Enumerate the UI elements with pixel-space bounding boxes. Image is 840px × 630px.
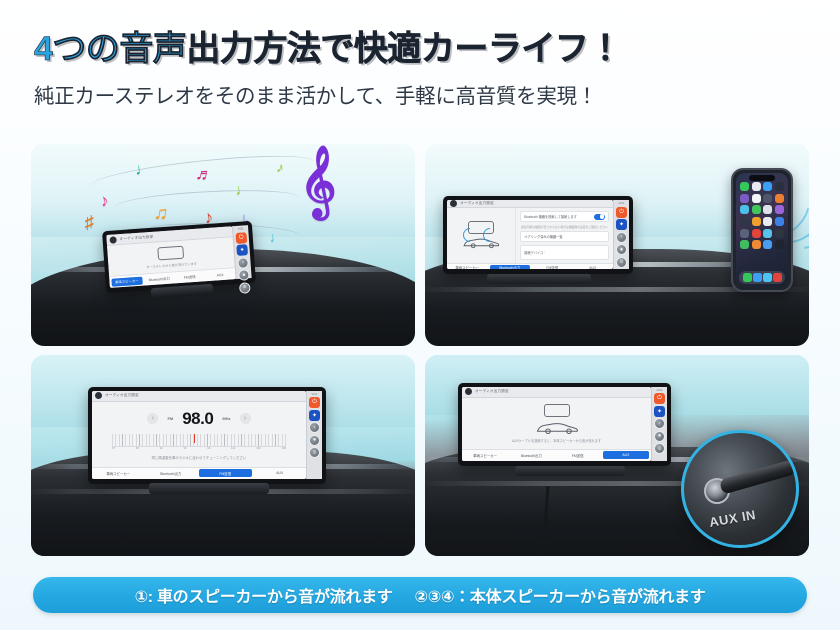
device-app-icon xyxy=(450,200,457,207)
app-icon[interactable] xyxy=(740,205,749,214)
legend-banner: ①: 車のスピーカーから音が流れます②③④：本体スピーカーから音が流れます xyxy=(33,577,807,613)
dash-monitor-device[interactable]: オーディオ出力設定 AUXケーブルを接続すると、本体スピーカーから音が流れます xyxy=(458,383,671,466)
device-screen[interactable]: オーディオ出力設定 xyxy=(447,200,613,269)
app-icon[interactable] xyxy=(763,182,772,191)
device-app-icon xyxy=(465,388,472,395)
device-center-hint: カーステレオから音が流れています xyxy=(146,260,197,269)
tab-car-speaker[interactable]: 車両スピーカー xyxy=(447,264,488,270)
tab-car-speaker[interactable]: 車両スピーカー xyxy=(111,276,142,286)
fm-tick: 96 xyxy=(183,447,186,452)
panel-bluetooth-output: オーディオ出力設定 xyxy=(425,144,809,346)
tab-fm[interactable]: FM送信 xyxy=(199,469,252,477)
app-icon[interactable] xyxy=(740,194,749,203)
phone-app-grid[interactable] xyxy=(740,182,784,249)
setting-note: 接続可能な機器が見つからない場合は機器側の設定をご確認ください xyxy=(520,225,609,229)
menu-button[interactable]: ≡ xyxy=(616,257,627,268)
device-titlebar: オーディオ出力設定 xyxy=(92,391,306,402)
app-icon[interactable] xyxy=(775,194,784,203)
app-icon[interactable] xyxy=(775,205,784,214)
dash-monitor-device[interactable]: オーディオ出力設定 カーステレオから音が流れています 車両スピーカー Bluet… xyxy=(102,221,256,293)
power-button[interactable]: ⏻ xyxy=(654,393,665,404)
phone-app-icon[interactable] xyxy=(763,273,772,282)
setting-row-paired-devices[interactable]: ペアリング済みの機器一覧 xyxy=(520,231,609,242)
smartphone[interactable] xyxy=(731,168,793,292)
tab-aux[interactable]: AUX xyxy=(573,264,614,270)
app-icon[interactable] xyxy=(752,194,761,203)
phone-dock[interactable] xyxy=(739,271,785,284)
panel-aux-output: オーディオ出力設定 AUXケーブルを接続すると、本体スピーカーから音が流れます xyxy=(425,355,809,557)
back-button[interactable]: ‹ xyxy=(309,422,320,433)
aux-in-port-closeup: AUX IN xyxy=(681,430,799,548)
tab-aux[interactable]: AUX xyxy=(254,468,307,479)
menu-button[interactable]: ≡ xyxy=(309,447,320,458)
panel-car-speaker-output: ♪ ♫ ♩ ♬ ♪ ♯ ♪ ♩ ♭ ♪ ♩ ♪ ♪ 𝄞 オーディオ出力設定 xyxy=(31,144,415,346)
legend-right: ②③④：本体スピーカーから音が流れます xyxy=(414,589,705,606)
tab-aux[interactable]: AUX xyxy=(204,268,235,281)
device-app-icon xyxy=(95,392,102,399)
app-icon[interactable] xyxy=(763,217,772,226)
device-button-rail[interactable]: VOL ⏻ ✦ ‹ ● ≡ xyxy=(651,387,667,461)
app-icon[interactable] xyxy=(775,217,784,226)
fm-next-button[interactable]: › xyxy=(240,413,251,424)
tab-bluetooth[interactable]: Bluetooth出力 xyxy=(490,265,531,269)
menu-button[interactable]: ≡ xyxy=(239,282,251,294)
bluetooth-settings-list[interactable]: Bluetooth 機器を検索して接続します 接続可能な機器が見つからない場合は… xyxy=(516,208,613,263)
app-icon[interactable] xyxy=(752,217,761,226)
power-button[interactable]: ⏻ xyxy=(616,207,627,218)
aux-in-label: AUX IN xyxy=(708,507,757,530)
device-screen[interactable]: オーディオ出力設定 カーステレオから音が流れています 車両スピーカー Bluet… xyxy=(106,226,235,288)
app-icon[interactable] xyxy=(740,240,749,249)
monitor-stand xyxy=(487,274,591,284)
setting-row-connected-device[interactable]: 接続デバイス： xyxy=(520,245,609,260)
back-button[interactable]: ‹ xyxy=(654,418,665,429)
phone-app-icon[interactable] xyxy=(743,273,752,282)
fm-tick: 90 xyxy=(136,447,139,452)
volume-label: VOL xyxy=(656,389,662,392)
car-glyph-icon xyxy=(461,236,501,249)
monitor-stand xyxy=(149,483,269,494)
device-title: オーディオ出力設定 xyxy=(475,389,509,394)
app-icon[interactable] xyxy=(775,229,784,238)
app-icon[interactable] xyxy=(740,229,749,238)
device-screen[interactable]: オーディオ出力設定 ‹ FM 98.0 MHz › xyxy=(92,391,306,479)
bluetooth-button[interactable]: ✦ xyxy=(654,406,665,417)
fm-needle xyxy=(194,434,195,443)
header: 4つの音声出力方法で快適カーライフ！ 純正カーステレオをそのまま活かして、手軽に… xyxy=(0,0,840,109)
bluetooth-button[interactable]: ✦ xyxy=(616,219,627,230)
app-icon[interactable] xyxy=(740,182,749,191)
panel-fm-output: オーディオ出力設定 ‹ FM 98.0 MHz › xyxy=(31,355,415,557)
device-tabbar[interactable]: 車両スピーカー Bluetooth出力 FM送信 AUX xyxy=(462,449,651,461)
device-tabbar[interactable]: 車両スピーカー Bluetooth出力 FM送信 AUX xyxy=(447,263,613,270)
device-body: ‹ FM 98.0 MHz › 87 90 93 xyxy=(92,402,306,467)
app-icon[interactable] xyxy=(775,182,784,191)
tab-fm[interactable]: FM送信 xyxy=(174,270,205,283)
tab-fm[interactable]: FM送信 xyxy=(555,450,601,461)
legend-text: ①: 車のスピーカーから音が流れます②③④：本体スピーカーから音が流れます xyxy=(135,583,706,607)
fm-tick: 99 xyxy=(207,447,210,452)
page-title: 4つの音声出力方法で快適カーライフ！ xyxy=(34,30,840,68)
setting-label: ペアリング済みの機器一覧 xyxy=(524,234,562,239)
phone-screen[interactable] xyxy=(736,173,788,287)
tab-bluetooth[interactable]: Bluetooth出力 xyxy=(145,468,198,479)
volume-label: VOL xyxy=(311,393,317,396)
app-icon[interactable] xyxy=(763,194,772,203)
device-title: オーディオ出力設定 xyxy=(460,201,494,206)
app-icon[interactable] xyxy=(752,205,761,214)
headline-highlight: 4つの音声 xyxy=(34,30,186,68)
device-title: オーディオ出力設定 xyxy=(119,234,153,241)
fm-tick: 105 xyxy=(256,447,260,452)
power-button[interactable]: ⏻ xyxy=(235,232,247,244)
headline-rest: 出力方法で快適カーライフ！ xyxy=(186,30,622,68)
app-icon[interactable] xyxy=(752,240,761,249)
device-button-rail[interactable]: VOL ⏻ ✦ ‹ ● ≡ xyxy=(306,391,322,479)
app-icon[interactable] xyxy=(740,217,749,226)
device-titlebar: オーディオ出力設定 xyxy=(447,200,613,208)
tab-bluetooth[interactable]: Bluetooth出力 xyxy=(508,450,554,461)
bluetooth-button[interactable]: ✦ xyxy=(309,410,320,421)
fm-band-label: FM xyxy=(167,416,173,421)
tab-car-speaker[interactable]: 車両スピーカー xyxy=(92,468,145,479)
tab-bluetooth[interactable]: Bluetooth出力 xyxy=(144,272,175,285)
power-button[interactable]: ⏻ xyxy=(309,397,320,408)
car-silhouette-icon xyxy=(534,420,580,435)
home-button[interactable]: ● xyxy=(654,431,665,442)
home-button[interactable]: ● xyxy=(238,269,250,281)
setting-row-bluetooth-enable[interactable]: Bluetooth 機器を検索して接続します xyxy=(520,211,609,222)
phone-app-icon[interactable] xyxy=(753,273,762,282)
home-button[interactable]: ● xyxy=(616,244,627,255)
app-icon[interactable] xyxy=(752,182,761,191)
app-icon[interactable] xyxy=(763,229,772,238)
legend-left: ①: 車のスピーカーから音が流れます xyxy=(135,589,393,606)
tab-car-speaker[interactable]: 車両スピーカー xyxy=(462,450,508,461)
bluetooth-toggle[interactable] xyxy=(594,214,605,220)
fm-frequency-row: ‹ FM 98.0 MHz › xyxy=(98,409,300,429)
setting-label: Bluetooth 機器を検索して接続します xyxy=(524,214,577,219)
fm-prev-button[interactable]: ‹ xyxy=(147,413,158,424)
fm-unit-label: MHz xyxy=(222,416,230,421)
phone-notch xyxy=(749,175,775,181)
app-icon[interactable] xyxy=(763,240,772,249)
device-title: オーディオ出力設定 xyxy=(105,393,139,398)
aux-cable-plug xyxy=(719,459,796,494)
fm-tuning-dial[interactable] xyxy=(112,434,286,447)
device-screen[interactable]: オーディオ出力設定 AUXケーブルを接続すると、本体スピーカーから音が流れます xyxy=(462,387,651,461)
monitor-glyph-icon xyxy=(544,404,570,417)
dash-monitor-device[interactable]: オーディオ出力設定 ‹ FM 98.0 MHz › xyxy=(88,387,326,484)
app-icon[interactable] xyxy=(763,205,772,214)
device-tabbar[interactable]: 車両スピーカー Bluetooth出力 FM送信 AUX xyxy=(92,467,306,479)
device-app-icon xyxy=(109,236,116,243)
fm-hint-text: 同じ周波数を車のラジオに合わせてチューニングしてください xyxy=(152,455,247,460)
home-button[interactable]: ● xyxy=(309,435,320,446)
bluetooth-button[interactable]: ✦ xyxy=(236,244,248,256)
fm-tick: 108 xyxy=(281,447,285,452)
feature-photo-grid: ♪ ♫ ♩ ♬ ♪ ♯ ♪ ♩ ♭ ♪ ♩ ♪ ♪ 𝄞 オーディオ出力設定 xyxy=(31,144,809,556)
tab-aux[interactable]: AUX xyxy=(603,451,649,459)
app-icon[interactable] xyxy=(752,229,761,238)
app-icon[interactable] xyxy=(775,240,784,249)
fm-scale-ticks: 87 90 93 96 99 102 105 108 xyxy=(112,447,286,452)
volume-label: VOL xyxy=(618,202,624,205)
fm-tick: 87 xyxy=(112,447,115,452)
device-body: AUXケーブルを接続すると、本体スピーカーから音が流れます xyxy=(462,398,651,449)
back-button[interactable]: ‹ xyxy=(616,232,627,243)
device-center-hint: AUXケーブルを接続すると、本体スピーカーから音が流れます xyxy=(512,438,601,443)
device-titlebar: オーディオ出力設定 xyxy=(462,387,651,398)
monitor-glyph-icon xyxy=(157,245,184,260)
back-button[interactable]: ‹ xyxy=(237,257,249,269)
device-body: Bluetooth 機器を検索して接続します 接続可能な機器が見つからない場合は… xyxy=(447,208,613,263)
fm-tick: 102 xyxy=(231,447,235,452)
phone-app-icon[interactable] xyxy=(773,273,782,282)
dash-monitor-device[interactable]: オーディオ出力設定 xyxy=(443,196,633,274)
tab-fm[interactable]: FM送信 xyxy=(532,264,573,270)
volume-label: VOL xyxy=(238,227,244,230)
device-button-rail[interactable]: VOL ⏻ ✦ ‹ ● ≡ xyxy=(613,200,629,269)
setting-label: 接続デバイス： xyxy=(524,250,546,255)
fm-tick: 93 xyxy=(160,447,163,452)
menu-button[interactable]: ≡ xyxy=(654,443,665,454)
fm-tuner[interactable]: ‹ FM 98.0 MHz › 87 90 93 xyxy=(92,402,306,467)
pairing-diagram xyxy=(447,208,516,263)
page-subtitle: 純正カーステレオをそのまま活かして、手軽に高音質を実現！ xyxy=(34,79,840,109)
monitor-stand xyxy=(515,466,625,476)
aux-output-diagram: AUXケーブルを接続すると、本体スピーカーから音が流れます xyxy=(462,398,651,449)
fm-frequency-value: 98.0 xyxy=(182,409,213,429)
